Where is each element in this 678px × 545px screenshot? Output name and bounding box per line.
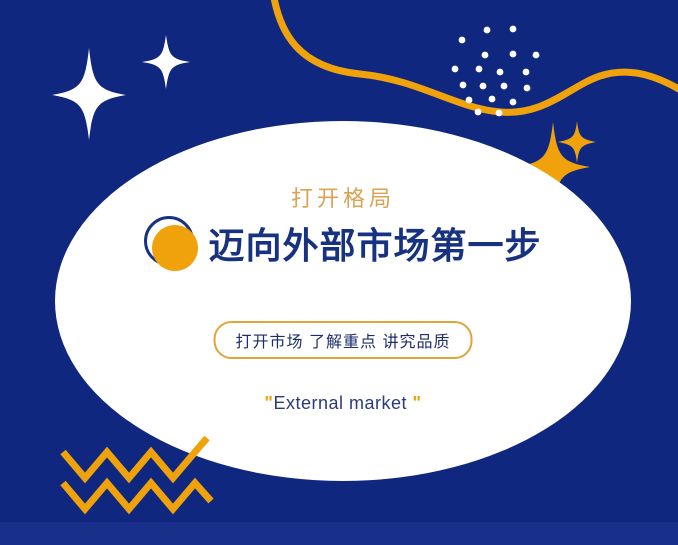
english-subtitle: "External market " bbox=[55, 393, 631, 414]
eyebrow-text: 打开格局 bbox=[55, 181, 631, 213]
page-title: 迈向外部市场第一步 bbox=[208, 228, 541, 264]
poster-content: 打开格局 迈向外部市场第一步 打开市场 了解重点 讲究品质 "External … bbox=[55, 121, 631, 481]
english-subtitle-text: External market bbox=[273, 393, 407, 413]
circle-fill-icon bbox=[152, 225, 198, 271]
poster-canvas: 打开格局 迈向外部市场第一步 打开市场 了解重点 讲究品质 "External … bbox=[0, 0, 678, 545]
tagline-pill: 打开市场 了解重点 讲究品质 bbox=[214, 321, 473, 359]
circle-mark-icon bbox=[144, 216, 204, 276]
close-quote: " bbox=[413, 393, 422, 413]
title-row: 迈向外部市场第一步 bbox=[55, 216, 631, 276]
